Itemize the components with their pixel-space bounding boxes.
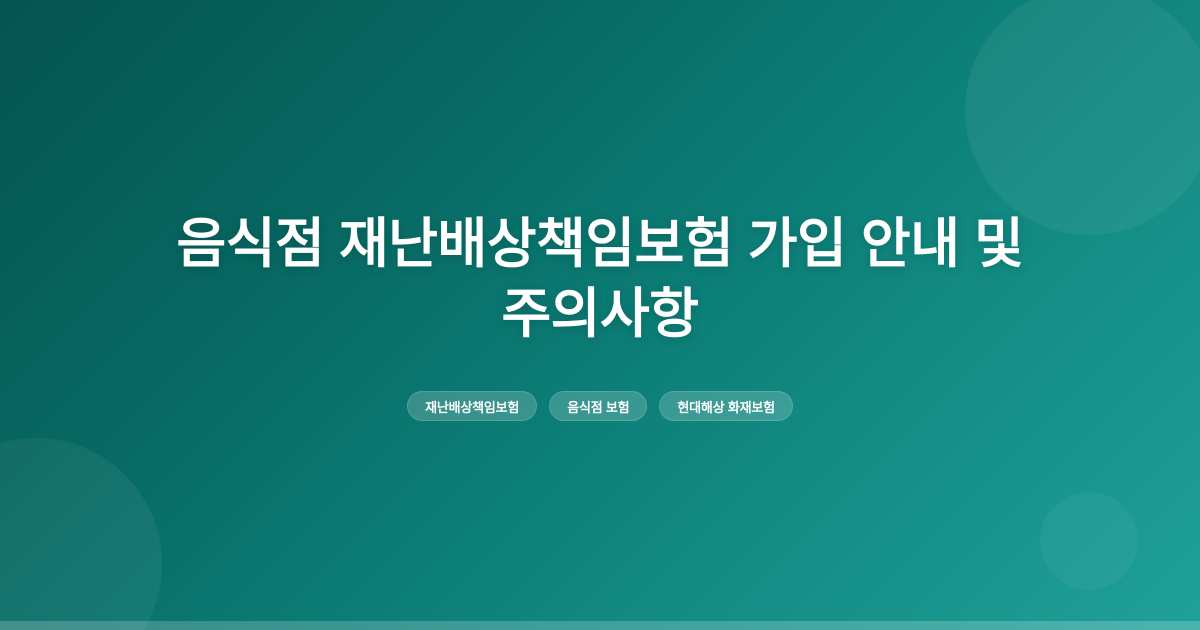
card-content: 음식점 재난배상책임보험 가입 안내 및 주의사항 재난배상책임보험 음식점 보… <box>0 0 1200 630</box>
tag-hyundai-marine-fire-insurance[interactable]: 현대해상 화재보험 <box>659 391 793 421</box>
tag-disaster-liability-insurance[interactable]: 재난배상책임보험 <box>407 391 537 421</box>
tag-restaurant-insurance[interactable]: 음식점 보험 <box>549 391 647 421</box>
og-card: 음식점 재난배상책임보험 가입 안내 및 주의사항 재난배상책임보험 음식점 보… <box>0 0 1200 630</box>
tag-list: 재난배상책임보험 음식점 보험 현대해상 화재보험 <box>407 391 793 421</box>
page-title: 음식점 재난배상책임보험 가입 안내 및 주의사항 <box>170 209 1030 349</box>
